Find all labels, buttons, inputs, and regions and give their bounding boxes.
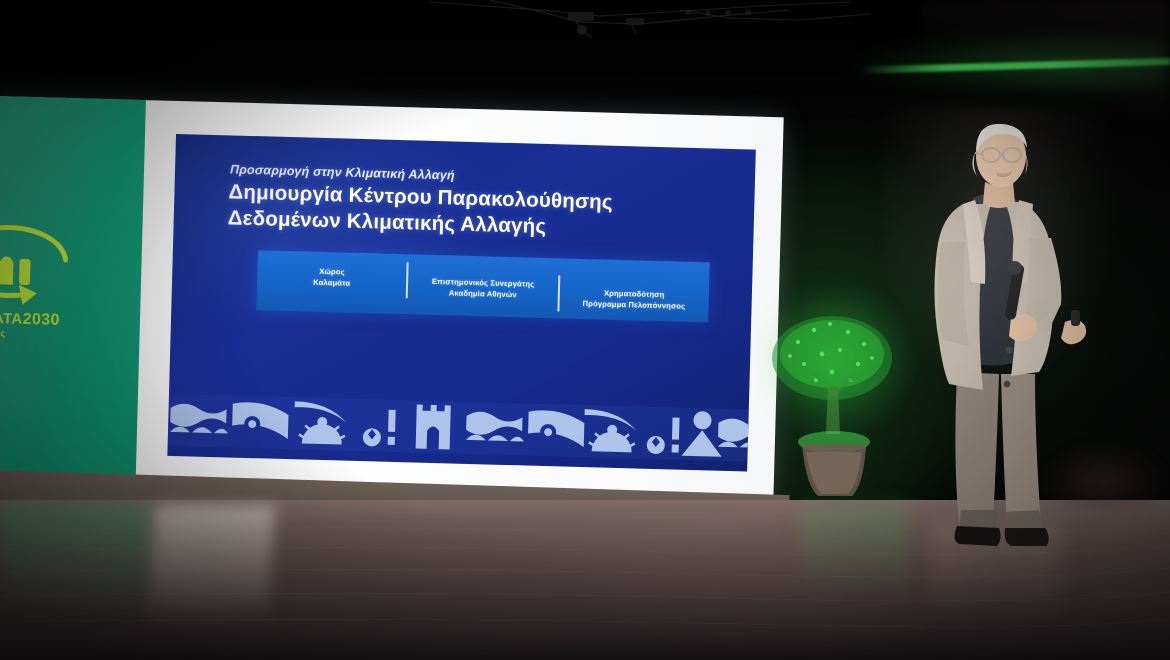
projection-screen-wall: ΚΑΛΑΜΑΤΑ2030 πόλη για να ζεις Προσαρμογή… bbox=[0, 96, 784, 509]
fact-item-partner: Επιστημονικός Συνεργάτης Ακαδημία Αθηνών bbox=[408, 275, 558, 301]
slide-facts-band: Χώρος Καλαμάτα Επιστημονικός Συνεργάτης … bbox=[256, 250, 709, 322]
logo-wordmark-text: ΚΑΛΑΜΑΤΑ bbox=[0, 309, 23, 328]
floor-reflection-green-panel bbox=[0, 505, 150, 645]
kalamata-logo-mark-icon bbox=[0, 213, 89, 313]
decorative-frieze-icon bbox=[167, 388, 748, 466]
logo-wordmark-year: 2030 bbox=[22, 311, 60, 329]
kalamata-2030-logo: ΚΑΛΑΜΑΤΑ2030 πόλη για να ζεις bbox=[0, 213, 89, 347]
fact-item-funding: Χρηματοδότηση Πρόγραμμα Πελοπόννησος bbox=[559, 286, 709, 312]
floor-reflection-screen bbox=[145, 505, 275, 655]
slide-facts-row: Χώρος Καλαμάτα Επιστημονικός Συνεργάτης … bbox=[256, 250, 709, 322]
logo-wordmark: ΚΑΛΑΜΑΤΑ2030 bbox=[0, 309, 86, 331]
fact-item-venue: Χώρος Καλαμάτα bbox=[257, 264, 407, 290]
stage-photo: ΚΑΛΑΜΑΤΑ2030 πόλη για να ζεις Προσαρμογή… bbox=[0, 0, 1170, 660]
speaker-rim-light bbox=[881, 104, 1131, 404]
darkened-audience bbox=[1040, 440, 1170, 510]
presentation-slide: Προσαρμογή στην Κλιματική Αλλαγή Δημιουρ… bbox=[167, 134, 755, 472]
decorative-tree bbox=[768, 302, 898, 502]
